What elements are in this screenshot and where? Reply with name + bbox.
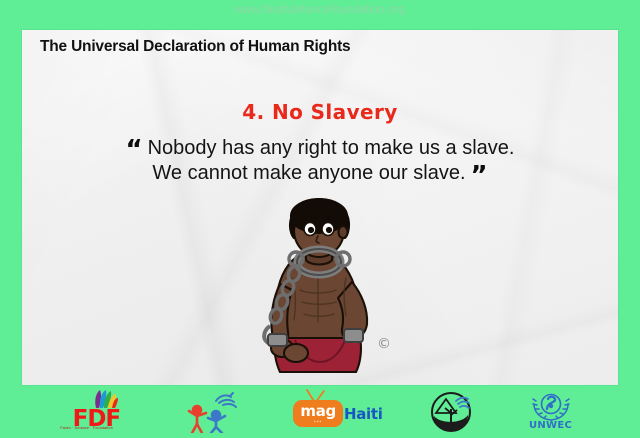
footer-logo-bar: FDF Farah · Delance · Foundation [0,385,640,438]
article-heading: 4. No Slavery [22,100,618,124]
close-quote-icon: ” [471,161,488,191]
site-url: www.farahdelancefoundation.org [0,4,640,16]
mag-text: mag [300,402,336,420]
mag-dots: ▪▪▪ [300,421,336,424]
copyright-icon: © [377,336,391,352]
dancing-figures-logo[interactable] [179,390,249,434]
circle-emblem-icon [430,391,472,433]
haiti-text: Haiti [344,405,383,423]
fdf-logo[interactable]: FDF Farah · Delance · Foundation [54,390,138,434]
open-quote-icon: “ [126,135,143,165]
dancing-figures-icon [183,391,245,433]
fdf-logo-subtitle: Farah · Delance · Foundation [60,426,113,430]
unwec-logo[interactable]: UNWEC [516,390,586,434]
page-title: The Universal Declaration of Human Right… [40,38,350,56]
unwec-emblem-icon [531,392,571,422]
quote-text-2: We cannot make anyone our slave. [152,162,465,184]
mag-badge: mag ▪▪▪ [293,400,343,427]
content-card: The Universal Declaration of Human Right… [22,30,618,385]
quote-line-2: We cannot make anyone our slave.” [22,161,618,186]
slavery-illustration [240,198,400,376]
quote-line-1: “Nobody has any right to make us a slave… [22,136,618,161]
quote-text-1: Nobody has any right to make us a slave. [148,137,515,159]
unwec-text: UNWEC [529,420,572,431]
maghaiti-logo[interactable]: mag ▪▪▪ Haiti [290,390,386,434]
quote-block: “Nobody has any right to make us a slave… [22,136,618,186]
circle-emblem-logo[interactable] [427,390,475,434]
